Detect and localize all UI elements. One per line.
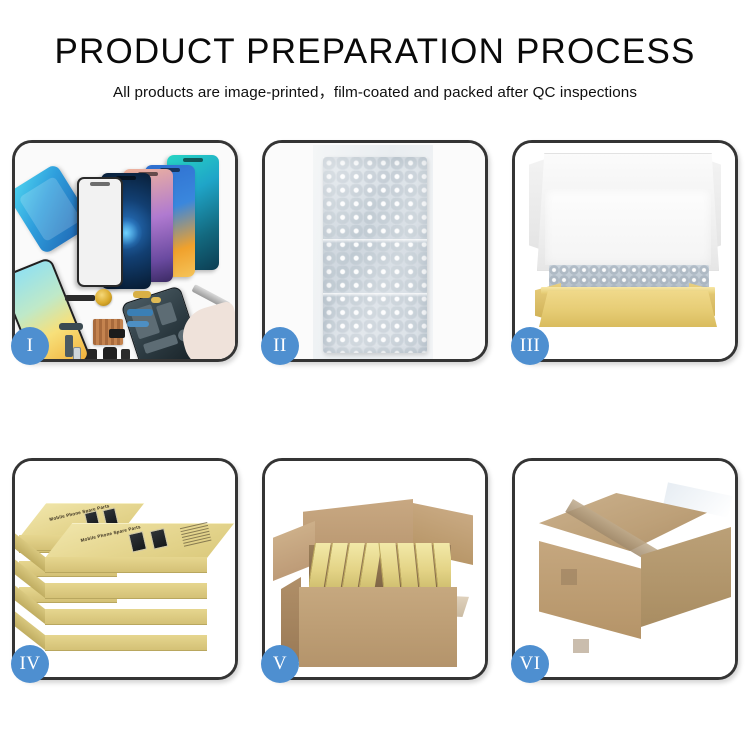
process-step-1: I [12,140,238,362]
open-carton-scene [265,461,485,677]
gold-connector-part-2 [151,297,161,303]
copper-coil-part [95,289,112,306]
page-title: PRODUCT PREPARATION PROCESS [0,34,750,71]
step-badge-6: VI [511,645,549,683]
bubble-wrap-scene [265,143,485,359]
wrap-gloss-highlight [323,157,427,353]
sealed-carton-right-face [641,527,731,627]
process-step-2: II [262,140,488,362]
stacked-boxes-scene: Mobile Phone Spare Parts [15,461,235,677]
flex-cable-part-1 [59,323,83,330]
header: PRODUCT PREPARATION PROCESS All products… [0,34,750,102]
box-label-title: Mobile Phone Spare Parts [49,503,110,522]
carton-front-face [299,587,457,667]
process-step-6: VI [512,458,738,680]
box-front-face [45,557,207,573]
foam-padding [545,189,711,265]
sealed-carton-scene [515,461,735,677]
process-step-grid: I II [12,140,738,680]
step-5-image [265,461,485,677]
flex-cable-part-3 [127,309,153,316]
box-label-phone-image-b [150,528,169,550]
step-badge-3: III [511,327,549,365]
step-3-image [515,143,735,359]
carton-flap-tab-bottom [573,639,589,653]
gold-connector-part-1 [133,291,151,298]
step-badge-4: IV [11,645,49,683]
carton-contents-boxes [309,543,451,591]
box-front-face [45,583,207,599]
step-1-image [15,143,235,359]
step-6-image [515,461,735,677]
camera-module-part [73,347,81,359]
speaker-part [65,295,95,301]
carton-flap-tab-top [561,569,577,585]
box-label-spec-lines [180,522,212,549]
page-subtitle: All products are image-printed，film-coat… [0,80,750,102]
step-4-image: Mobile Phone Spare Parts [15,461,235,677]
step-2-image [265,143,485,359]
process-step-5: V [262,458,488,680]
small-component-4 [109,329,125,338]
small-component-1 [87,349,97,359]
small-component-2 [103,347,117,359]
flex-cable-part-4 [127,321,149,327]
process-step-4: Mobile Phone Spare Parts [12,458,238,680]
step-badge-5: V [261,645,299,683]
step-badge-1: I [11,327,49,365]
box-front-face [45,635,207,651]
infographic-page: PRODUCT PREPARATION PROCESS All products… [0,0,750,750]
box-front-face [45,609,207,625]
small-component-3 [121,349,130,359]
box-label-phone-image-a [128,531,147,553]
inner-box-scene [515,143,735,359]
sealed-carton-front-face [539,541,641,639]
phone-parts-scene [15,143,235,359]
step-badge-2: II [261,327,299,365]
box-front-panel [539,291,717,327]
flex-cable-part-2 [65,335,73,357]
box-lid-face: Mobile Phone Spare Parts [45,523,234,558]
process-step-3: III [512,140,738,362]
phone-glass-protector [77,177,123,287]
